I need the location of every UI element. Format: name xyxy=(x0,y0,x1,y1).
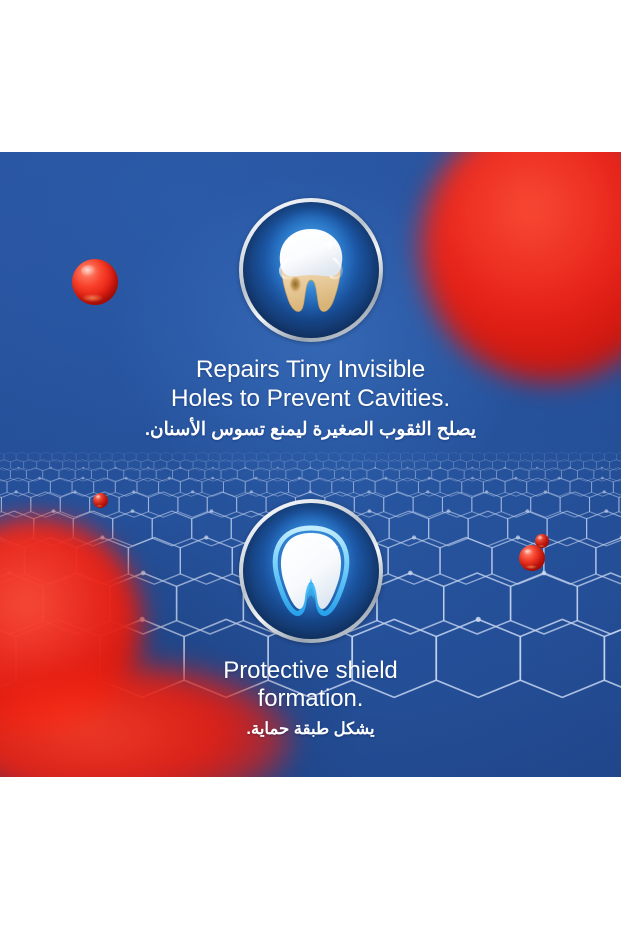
shielded-tooth-icon xyxy=(270,524,352,618)
headline-en: Repairs Tiny Invisible Holes to Prevent … xyxy=(40,356,581,413)
badge-inner xyxy=(243,503,379,639)
headline-en-line1: Repairs Tiny Invisible xyxy=(196,356,425,383)
headline-ar: يصلح الثقوب الصغيرة ليمنع تسوس الأسنان. xyxy=(40,416,581,443)
headline-en-line2: Holes to Prevent Cavities. xyxy=(171,385,450,412)
badge-decayed-tooth xyxy=(239,198,383,342)
headline-en-line2: formation. xyxy=(258,685,364,712)
feature-block-protective-shield: Protective shield formation. يشكل طبقة ح… xyxy=(0,499,621,742)
headline-en-line1: Protective shield xyxy=(223,657,397,684)
blue-panel: Repairs Tiny Invisible Holes to Prevent … xyxy=(0,152,621,777)
badge-inner xyxy=(243,202,379,338)
headline-ar: يشكل طبقة حماية. xyxy=(40,718,581,742)
poster-canvas: Repairs Tiny Invisible Holes to Prevent … xyxy=(0,0,621,931)
badge-shielded-tooth xyxy=(239,499,383,643)
decayed-tooth-icon xyxy=(270,223,352,317)
caption-protective-shield: Protective shield formation. يشكل طبقة ح… xyxy=(0,657,621,742)
feature-block-repairs-cavities: Repairs Tiny Invisible Holes to Prevent … xyxy=(0,198,621,443)
caption-repairs-cavities: Repairs Tiny Invisible Holes to Prevent … xyxy=(0,356,621,443)
headline-en: Protective shield formation. xyxy=(40,657,581,713)
